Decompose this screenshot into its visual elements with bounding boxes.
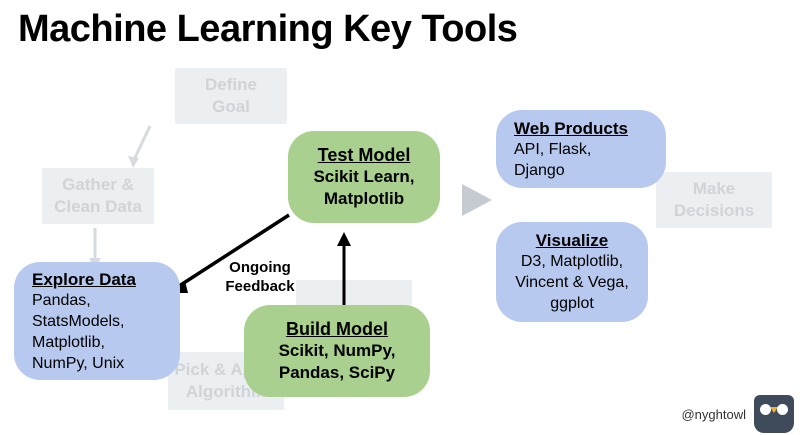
- ghost-line: Clean Data: [54, 196, 142, 218]
- node-explore-data[interactable]: Explore Data Pandas, StatsModels, Matplo…: [14, 262, 180, 380]
- node-heading: Explore Data: [32, 269, 136, 290]
- node-heading: Test Model: [318, 145, 411, 166]
- ghost-line: Make: [674, 178, 754, 200]
- node-heading: Build Model: [286, 319, 388, 340]
- ghost-line: Decisions: [674, 200, 754, 222]
- node-build-model[interactable]: Build Model Scikit, NumPy, Pandas, SciPy: [244, 305, 430, 397]
- node-heading: Web Products: [514, 118, 628, 139]
- node-visualize[interactable]: Visualize D3, Matplotlib, Vincent & Vega…: [496, 222, 648, 322]
- node-body: API, Flask, Django: [514, 139, 591, 181]
- node-heading: Visualize: [536, 230, 608, 251]
- footer: @nyghtowl: [610, 393, 800, 435]
- node-body: Scikit Learn, Matplotlib: [313, 166, 414, 210]
- ghost-line: Define: [205, 74, 257, 96]
- ghost-node-gather-clean-data: Gather & Clean Data: [42, 168, 154, 224]
- ghost-node-make-decisions: Make Decisions: [656, 172, 772, 228]
- node-web-products[interactable]: Web Products API, Flask, Django: [496, 110, 666, 188]
- node-test-model[interactable]: Test Model Scikit Learn, Matplotlib: [288, 131, 440, 223]
- ghost-line: Goal: [205, 96, 257, 118]
- ongoing-feedback-label: Ongoing Feedback: [200, 258, 320, 296]
- page-title: Machine Learning Key Tools: [18, 8, 517, 51]
- author-handle: @nyghtowl: [681, 407, 746, 422]
- ghost-node-define-goal: Define Goal: [175, 68, 287, 124]
- node-body: Pandas, StatsModels, Matplotlib, NumPy, …: [32, 290, 124, 374]
- node-body: Scikit, NumPy, Pandas, SciPy: [279, 340, 396, 384]
- owl-logo-icon: [754, 395, 794, 433]
- node-body: D3, Matplotlib, Vincent & Vega, ggplot: [515, 251, 629, 314]
- ghost-line: Gather &: [54, 174, 142, 196]
- slide-canvas: Machine Learning Key Tools Define Goal G…: [0, 0, 800, 435]
